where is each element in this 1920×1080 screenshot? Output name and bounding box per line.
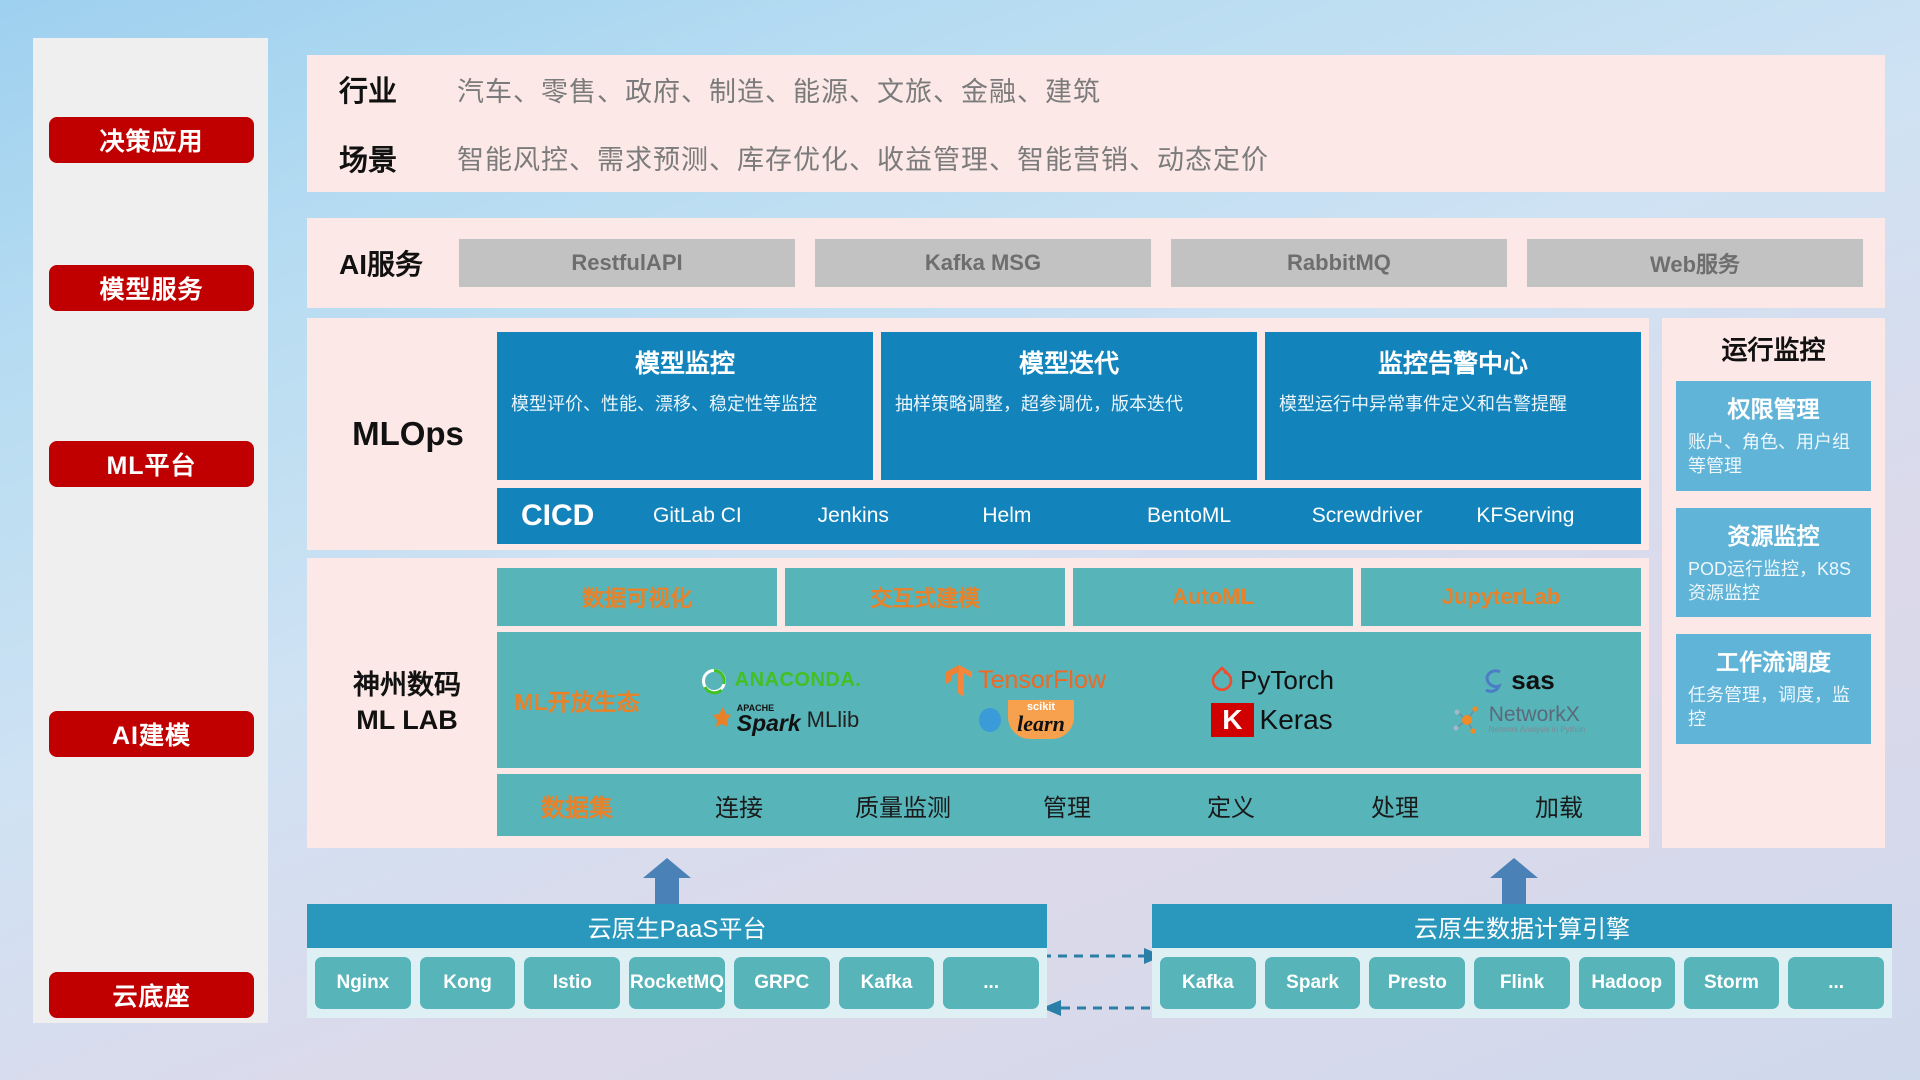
networkx-logo-text: NetworkX: [1489, 704, 1586, 726]
spark-star-icon: [701, 705, 731, 735]
sas-mark-icon: [1481, 667, 1505, 695]
ml-open-ecosystem-label: ML开放生态: [497, 683, 657, 717]
card-title: 模型迭代: [895, 344, 1243, 380]
scenario-label: 场景: [339, 137, 457, 179]
card-desc: 任务管理，调度，监控: [1688, 683, 1859, 732]
cicd-item-list: GitLab CI Jenkins Helm BentoML Screwdriv…: [653, 503, 1641, 529]
industry-values: 汽车、零售、政府、制造、能源、文旅、金融、建筑: [457, 70, 1101, 109]
rail-chip-model-service[interactable]: 模型服务: [49, 265, 254, 311]
tool-chip-data-visualization[interactable]: 数据可视化: [497, 568, 777, 626]
tensorflow-logo-text: TensorFlow: [978, 666, 1106, 695]
monitor-card-resource-monitoring[interactable]: 资源监控 POD运行监控，K8S资源监控: [1676, 508, 1871, 618]
cloud-native-paas-block: 云原生PaaS平台 Nginx Kong Istio RocketMQ GRPC…: [307, 904, 1047, 1018]
tensorflow-mark-icon: [946, 665, 972, 697]
dataset-item-load[interactable]: 加载: [1477, 788, 1641, 823]
layer-rail: 决策应用 模型服务 ML平台 AI建模 云底座: [33, 38, 268, 1023]
cicd-item-bentoml[interactable]: BentoML: [1147, 503, 1312, 529]
data-chip-flink[interactable]: Flink: [1474, 957, 1570, 1009]
anaconda-mark-icon: [699, 666, 729, 696]
tool-chip-jupyterlab[interactable]: JupyterLab: [1361, 568, 1641, 626]
card-desc: 账户、角色、用户组等管理: [1688, 430, 1859, 479]
scenario-values: 智能风控、需求预测、库存优化、收益管理、智能营销、动态定价: [457, 138, 1269, 177]
card-title: 工作流调度: [1688, 643, 1859, 677]
scenario-row: 场景 智能风控、需求预测、库存优化、收益管理、智能营销、动态定价: [307, 124, 1885, 193]
networkx-logo: NetworkX Network Analysis in Python: [1395, 700, 1641, 739]
cloud-data-engine-header: 云原生数据计算引擎: [1152, 904, 1892, 948]
ml-lab-label: 神州数码 ML LAB: [317, 558, 497, 848]
mlops-card-model-monitoring[interactable]: 模型监控 模型评价、性能、漂移、稳定性等监控: [497, 332, 873, 480]
spark-logo-text: Spark: [737, 713, 801, 735]
cloud-native-data-engine-block: 云原生数据计算引擎 Kafka Spark Presto Flink Hadoo…: [1152, 904, 1892, 1018]
dataset-item-process[interactable]: 处理: [1313, 788, 1477, 823]
card-desc: 模型运行中异常事件定义和告警提醒: [1279, 392, 1627, 417]
rail-chip-label: AI建模: [112, 716, 191, 752]
cloud-chip-kong[interactable]: Kong: [420, 957, 516, 1009]
dataset-bar: 数据集 连接 质量监测 管理 定义 处理 加载: [497, 774, 1641, 836]
pytorch-logo: PyTorch: [1149, 661, 1395, 700]
data-chip-more[interactable]: ...: [1788, 957, 1884, 1009]
cicd-item-jenkins[interactable]: Jenkins: [818, 503, 983, 529]
mlops-card-list: 模型监控 模型评价、性能、漂移、稳定性等监控 模型迭代 抽样策略调整，超参调优，…: [497, 332, 1641, 480]
rail-chip-label: 模型服务: [99, 270, 203, 306]
cicd-item-helm[interactable]: Helm: [982, 503, 1147, 529]
cloud-paas-chip-list: Nginx Kong Istio RocketMQ GRPC Kafka ...: [307, 948, 1047, 1018]
ai-service-chip-rabbitmq[interactable]: RabbitMQ: [1171, 239, 1507, 287]
rail-chip-decision-app[interactable]: 决策应用: [49, 117, 254, 163]
keras-logo: K Keras: [1149, 700, 1395, 739]
cicd-item-kfserving[interactable]: KFServing: [1476, 503, 1641, 529]
pytorch-logo-text: PyTorch: [1240, 665, 1334, 696]
rail-chip-label: 云底座: [112, 977, 190, 1013]
industry-scenario-panel: 行业 汽车、零售、政府、制造、能源、文旅、金融、建筑 场景 智能风控、需求预测、…: [307, 55, 1885, 192]
dataset-item-define[interactable]: 定义: [1149, 788, 1313, 823]
learn-logo-text: learn: [1017, 713, 1065, 735]
rail-chip-ml-platform[interactable]: ML平台: [49, 441, 254, 487]
dataset-label: 数据集: [497, 788, 657, 823]
tensorflow-logo: TensorFlow: [903, 661, 1149, 700]
keras-logo-text: Keras: [1260, 704, 1333, 736]
cloud-paas-header: 云原生PaaS平台: [307, 904, 1047, 948]
mlops-card-model-iteration[interactable]: 模型迭代 抽样策略调整，超参调优，版本迭代: [881, 332, 1257, 480]
ai-service-chip-list: RestfulAPI Kafka MSG RabbitMQ Web服务: [459, 239, 1863, 287]
data-chip-kafka[interactable]: Kafka: [1160, 957, 1256, 1009]
data-chip-spark[interactable]: Spark: [1265, 957, 1361, 1009]
data-chip-presto[interactable]: Presto: [1369, 957, 1465, 1009]
card-desc: POD运行监控，K8S资源监控: [1688, 557, 1859, 606]
mlops-card-alert-center[interactable]: 监控告警中心 模型运行中异常事件定义和告警提醒: [1265, 332, 1641, 480]
dataset-item-connect[interactable]: 连接: [657, 788, 821, 823]
pytorch-mark-icon: [1210, 666, 1234, 696]
ai-service-label: AI服务: [329, 243, 459, 283]
ai-service-chip-restfulapi[interactable]: RestfulAPI: [459, 239, 795, 287]
industry-label: 行业: [339, 68, 457, 110]
cicd-bar: CICD GitLab CI Jenkins Helm BentoML Scre…: [497, 488, 1641, 544]
monitor-card-workflow-scheduling[interactable]: 工作流调度 任务管理，调度，监控: [1676, 634, 1871, 744]
dataset-item-manage[interactable]: 管理: [985, 788, 1149, 823]
card-title: 监控告警中心: [1279, 344, 1627, 380]
mllib-logo-text: MLlib: [807, 707, 860, 733]
ml-lab-label-cn: 神州数码: [353, 668, 461, 703]
cloud-data-engine-chip-list: Kafka Spark Presto Flink Hadoop Storm ..…: [1152, 948, 1892, 1018]
card-desc: 抽样策略调整，超参调优，版本迭代: [895, 392, 1243, 417]
rail-chip-label: ML平台: [106, 446, 196, 482]
tool-chip-interactive-modeling[interactable]: 交互式建模: [785, 568, 1065, 626]
card-desc: 模型评价、性能、漂移、稳定性等监控: [511, 392, 859, 417]
data-chip-storm[interactable]: Storm: [1684, 957, 1780, 1009]
sas-logo: sas: [1395, 661, 1641, 700]
cicd-item-screwdriver[interactable]: Screwdriver: [1312, 503, 1477, 529]
cloud-chip-rocketmq[interactable]: RocketMQ: [629, 957, 725, 1009]
data-chip-hadoop[interactable]: Hadoop: [1579, 957, 1675, 1009]
ai-service-panel: AI服务 RestfulAPI Kafka MSG RabbitMQ Web服务: [307, 218, 1885, 308]
keras-mark-icon: K: [1211, 703, 1253, 737]
ml-lab-label-en: ML LAB: [356, 703, 458, 738]
bidirectional-dashed-connector: [1040, 946, 1165, 1022]
ml-lab-tool-list: 数据可视化 交互式建模 AutoML JupyterLab: [497, 568, 1641, 626]
cicd-item-gitlab-ci[interactable]: GitLab CI: [653, 503, 818, 529]
sas-logo-text: sas: [1511, 665, 1554, 696]
runtime-monitoring-panel: 运行监控 权限管理 账户、角色、用户组等管理 资源监控 POD运行监控，K8S资…: [1662, 318, 1885, 848]
cloud-chip-istio[interactable]: Istio: [524, 957, 620, 1009]
spark-mllib-logo: APACHE Spark MLlib: [657, 700, 903, 739]
cloud-chip-more[interactable]: ...: [943, 957, 1039, 1009]
tool-chip-automl[interactable]: AutoML: [1073, 568, 1353, 626]
cloud-chip-kafka[interactable]: Kafka: [839, 957, 935, 1009]
cloud-chip-nginx[interactable]: Nginx: [315, 957, 411, 1009]
card-title: 资源监控: [1688, 517, 1859, 551]
mlops-panel: MLOps 模型监控 模型评价、性能、漂移、稳定性等监控 模型迭代 抽样策略调整…: [307, 318, 1649, 550]
dataset-item-list: 连接 质量监测 管理 定义 处理 加载: [657, 788, 1641, 823]
ai-service-chip-kafka-msg[interactable]: Kafka MSG: [815, 239, 1151, 287]
ml-open-ecosystem-bar: ML开放生态 ANACONDA. TensorFlow: [497, 632, 1641, 768]
scikit-blob-icon: [978, 706, 1002, 734]
ml-lab-panel: 神州数码 ML LAB 数据可视化 交互式建模 AutoML JupyterLa…: [307, 558, 1649, 848]
anaconda-logo-text: ANACONDA.: [735, 669, 862, 692]
scikit-learn-logo: scikit learn: [903, 700, 1149, 739]
networkx-logo-tagline: Network Analysis in Python: [1489, 726, 1586, 734]
card-title: 模型监控: [511, 344, 859, 380]
ai-service-chip-web-service[interactable]: Web服务: [1527, 239, 1863, 287]
rail-chip-label: 决策应用: [99, 122, 203, 158]
rail-chip-cloud-base[interactable]: 云底座: [49, 972, 254, 1018]
ecosystem-logo-grid: ANACONDA. TensorFlow PyTorch: [657, 661, 1641, 739]
dataset-item-quality-monitoring[interactable]: 质量监测: [821, 788, 985, 823]
runtime-monitoring-title: 运行监控: [1662, 318, 1885, 381]
mlops-label: MLOps: [325, 318, 491, 550]
anaconda-logo: ANACONDA.: [657, 661, 903, 700]
networkx-graph-icon: [1451, 704, 1483, 736]
rail-chip-ai-modeling[interactable]: AI建模: [49, 711, 254, 757]
card-title: 权限管理: [1688, 390, 1859, 424]
monitor-card-permission-management[interactable]: 权限管理 账户、角色、用户组等管理: [1676, 381, 1871, 491]
cloud-chip-grpc[interactable]: GRPC: [734, 957, 830, 1009]
industry-row: 行业 汽车、零售、政府、制造、能源、文旅、金融、建筑: [307, 55, 1885, 124]
cicd-title: CICD: [521, 499, 653, 533]
up-arrow-paas-icon: [643, 858, 691, 904]
up-arrow-data-engine-icon: [1490, 858, 1538, 904]
